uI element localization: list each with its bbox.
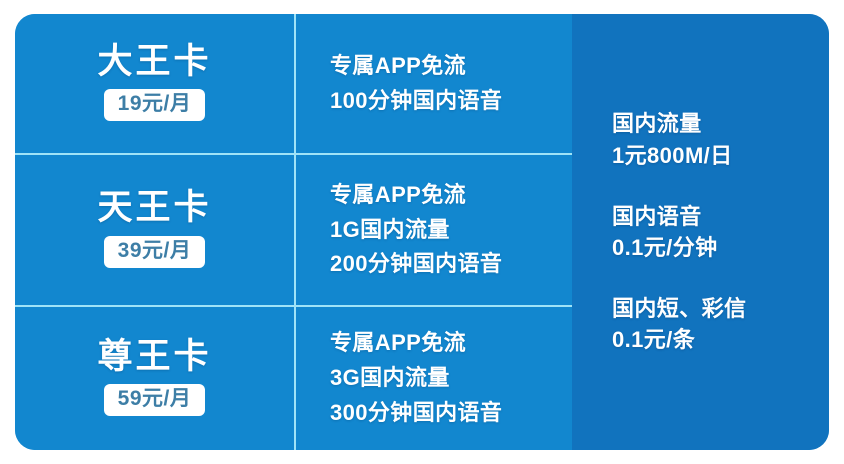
benefit-line: 3G国内流量 [330,361,572,396]
rate-label: 国内语音 [612,201,829,232]
plan-name-cell: 天王卡 39元/月 [15,155,296,305]
plan-benefits-cell: 专属APP免流 3G国内流量 300分钟国内语音 [296,307,572,450]
benefit-line: 专属APP免流 [330,326,572,361]
benefit-line: 专属APP免流 [330,49,572,84]
plan-row[interactable]: 天王卡 39元/月 专属APP免流 1G国内流量 200分钟国内语音 [15,155,572,307]
price-badge: 19元/月 [104,89,206,121]
plan-name-cell: 大王卡 19元/月 [15,14,296,153]
price-badge: 39元/月 [104,236,206,268]
rate-label: 国内短、彩信 [612,293,829,324]
plan-row[interactable]: 尊王卡 59元/月 专属APP免流 3G国内流量 300分钟国内语音 [15,307,572,450]
rate-group: 国内流量 1元800M/日 [612,108,829,170]
plan-benefits-cell: 专属APP免流 1G国内流量 200分钟国内语音 [296,155,572,305]
plan-benefits-cell: 专属APP免流 100分钟国内语音 [296,14,572,153]
plan-comparison-card: 大王卡 19元/月 专属APP免流 100分钟国内语音 天王卡 39元/月 专属… [15,14,829,450]
rate-group: 国内语音 0.1元/分钟 [612,201,829,263]
pricing-table-image: 大王卡 19元/月 专属APP免流 100分钟国内语音 天王卡 39元/月 专属… [0,0,844,464]
rate-value: 0.1元/分钟 [612,232,829,263]
rate-value: 1元800M/日 [612,140,829,171]
benefit-line: 1G国内流量 [330,213,572,248]
price-badge: 59元/月 [104,384,206,416]
plan-row[interactable]: 大王卡 19元/月 专属APP免流 100分钟国内语音 [15,14,572,155]
benefit-line: 300分钟国内语音 [330,396,572,431]
plan-title: 天王卡 [97,188,211,228]
rate-group: 国内短、彩信 0.1元/条 [612,293,829,355]
plans-section: 大王卡 19元/月 专属APP免流 100分钟国内语音 天王卡 39元/月 专属… [15,14,572,450]
benefit-line: 专属APP免流 [330,178,572,213]
rate-label: 国内流量 [612,108,829,139]
plan-name-cell: 尊王卡 59元/月 [15,307,296,450]
plan-title: 尊王卡 [97,337,211,377]
benefit-line: 200分钟国内语音 [330,247,572,282]
common-rates-section: 国内流量 1元800M/日 国内语音 0.1元/分钟 国内短、彩信 0.1元/条 [572,14,829,450]
rate-value: 0.1元/条 [612,324,829,355]
benefit-line: 100分钟国内语音 [330,84,572,119]
plan-title: 大王卡 [97,42,211,82]
